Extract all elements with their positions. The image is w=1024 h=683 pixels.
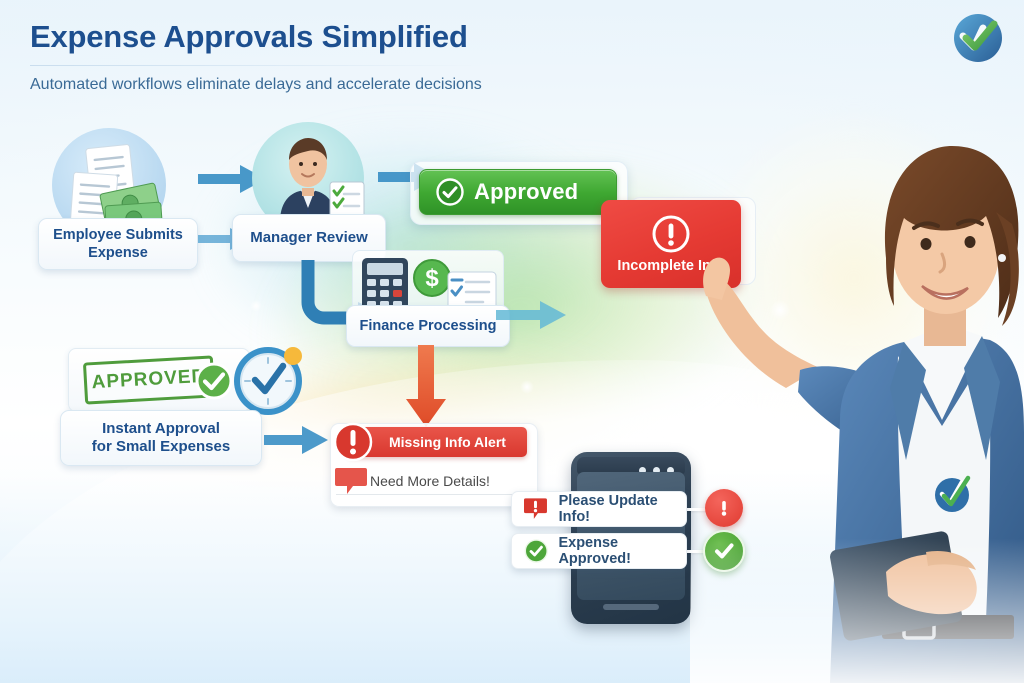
- exclamation-circle-icon: [332, 421, 374, 463]
- approved-button-label: Approved: [474, 179, 578, 205]
- speech-bubble-icon: [334, 464, 368, 498]
- alert-speech-bubble-icon: [524, 496, 549, 522]
- arrow-finance-out-right-icon: [496, 298, 568, 332]
- flow-card-label-line2: Expense: [53, 244, 183, 262]
- flow-card-finance-processing[interactable]: Finance Processing: [346, 305, 510, 347]
- instant-approval-label-line2: for Small Expenses: [92, 438, 230, 456]
- businesswoman-with-tablet: [690, 120, 1024, 683]
- notification-please-update-info[interactable]: Please Update Info!: [511, 491, 687, 527]
- approved-button[interactable]: Approved: [419, 169, 617, 215]
- phone-home-indicator: [603, 604, 659, 610]
- check-circle-icon: [524, 538, 548, 564]
- page-subtitle: Automated workflows eliminate delays and…: [30, 74, 482, 96]
- arrow-instant-to-alert-icon: [264, 424, 330, 456]
- alert-divider: [336, 494, 524, 495]
- header: Expense Approvals Simplified Automated w…: [30, 18, 482, 96]
- header-divider: [30, 65, 482, 66]
- page-title: Expense Approvals Simplified: [30, 18, 482, 56]
- missing-info-alert-bar[interactable]: Missing Info Alert: [347, 427, 527, 457]
- flow-card-label-line1: Employee Submits: [53, 226, 183, 244]
- notification-label: Expense Approved!: [558, 535, 686, 567]
- notification-label: Please Update Info!: [559, 493, 686, 525]
- missing-info-alert-label: Missing Info Alert: [389, 434, 506, 450]
- arrow-finance-to-alert-icon: [404, 345, 448, 431]
- flow-card-employee-submits[interactable]: Employee Submits Expense: [38, 218, 198, 270]
- need-more-details-label: Need More Details!: [370, 473, 490, 489]
- approved-stamp-label: APPROVED: [91, 366, 207, 394]
- check-circle-icon: [436, 178, 464, 206]
- brand-logo: [952, 12, 1004, 64]
- exclamation-circle-icon: [651, 214, 691, 254]
- flow-card-instant-approval[interactable]: Instant Approval for Small Expenses: [60, 410, 262, 466]
- infographic-canvas: Expense Approvals Simplified Automated w…: [0, 0, 1024, 683]
- svg-text:$: $: [425, 265, 439, 292]
- flow-card-label-line1: Manager Review: [250, 229, 368, 247]
- notification-expense-approved[interactable]: Expense Approved!: [511, 533, 687, 569]
- flow-card-label-line1: Finance Processing: [360, 317, 497, 335]
- instant-approval-label-line1: Instant Approval: [92, 420, 230, 438]
